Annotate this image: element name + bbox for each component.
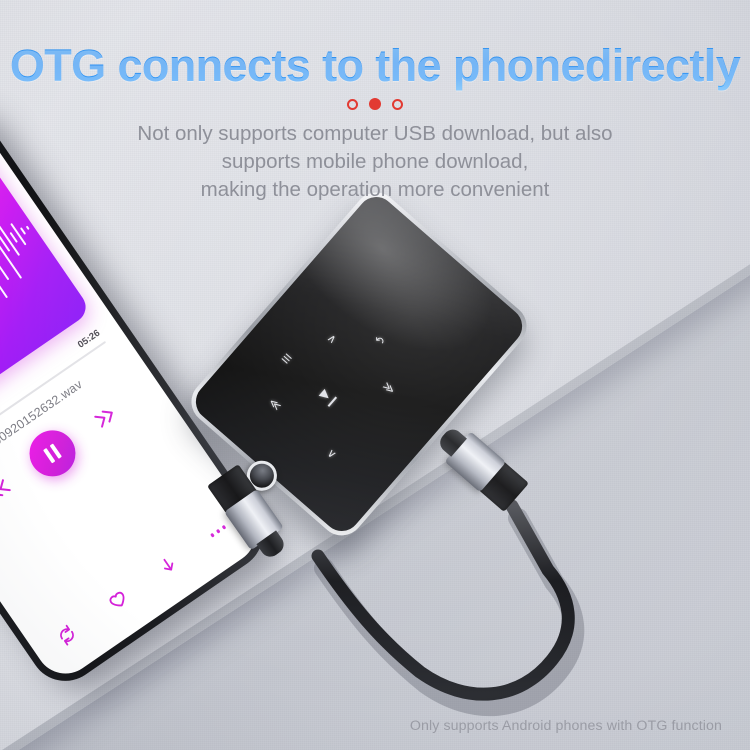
menu-icon[interactable]: ☰ [279, 353, 292, 366]
repeat-button[interactable] [53, 621, 81, 649]
product-banner: 5G [0, 0, 750, 750]
subtitle-line-2: supports mobile phone download, [0, 148, 750, 176]
favorite-button[interactable] [104, 586, 132, 614]
prev-track-icon[interactable]: ≪ [266, 397, 283, 414]
next-track-icon[interactable]: ≫ [380, 381, 397, 398]
volume-down-icon[interactable]: ∨ [324, 448, 338, 462]
download-button[interactable] [155, 551, 183, 579]
footnote-text: Only supports Android phones with OTG fu… [410, 718, 722, 734]
volume-up-icon[interactable]: ∧ [324, 332, 338, 346]
play-pause-button[interactable] [21, 421, 85, 485]
subtitle-line-1: Not only supports computer USB download,… [0, 120, 750, 148]
subtitle-block: Not only supports computer USB download,… [0, 120, 750, 204]
pause-icon [43, 443, 62, 463]
dot-separator [0, 98, 750, 110]
back-icon[interactable]: ↶ [371, 334, 386, 349]
forward-button[interactable] [89, 402, 122, 433]
dot-hollow-left [347, 99, 358, 110]
rewind-button[interactable] [0, 474, 16, 505]
more-options-button[interactable] [210, 525, 226, 538]
page-title: OTG connects to the phonedirectly [0, 40, 750, 92]
dot-hollow-right [392, 99, 403, 110]
dot-solid-center [369, 98, 381, 110]
subtitle-line-3: making the operation more convenient [0, 176, 750, 204]
play-pause-icon[interactable]: ▶❙ [319, 387, 341, 409]
